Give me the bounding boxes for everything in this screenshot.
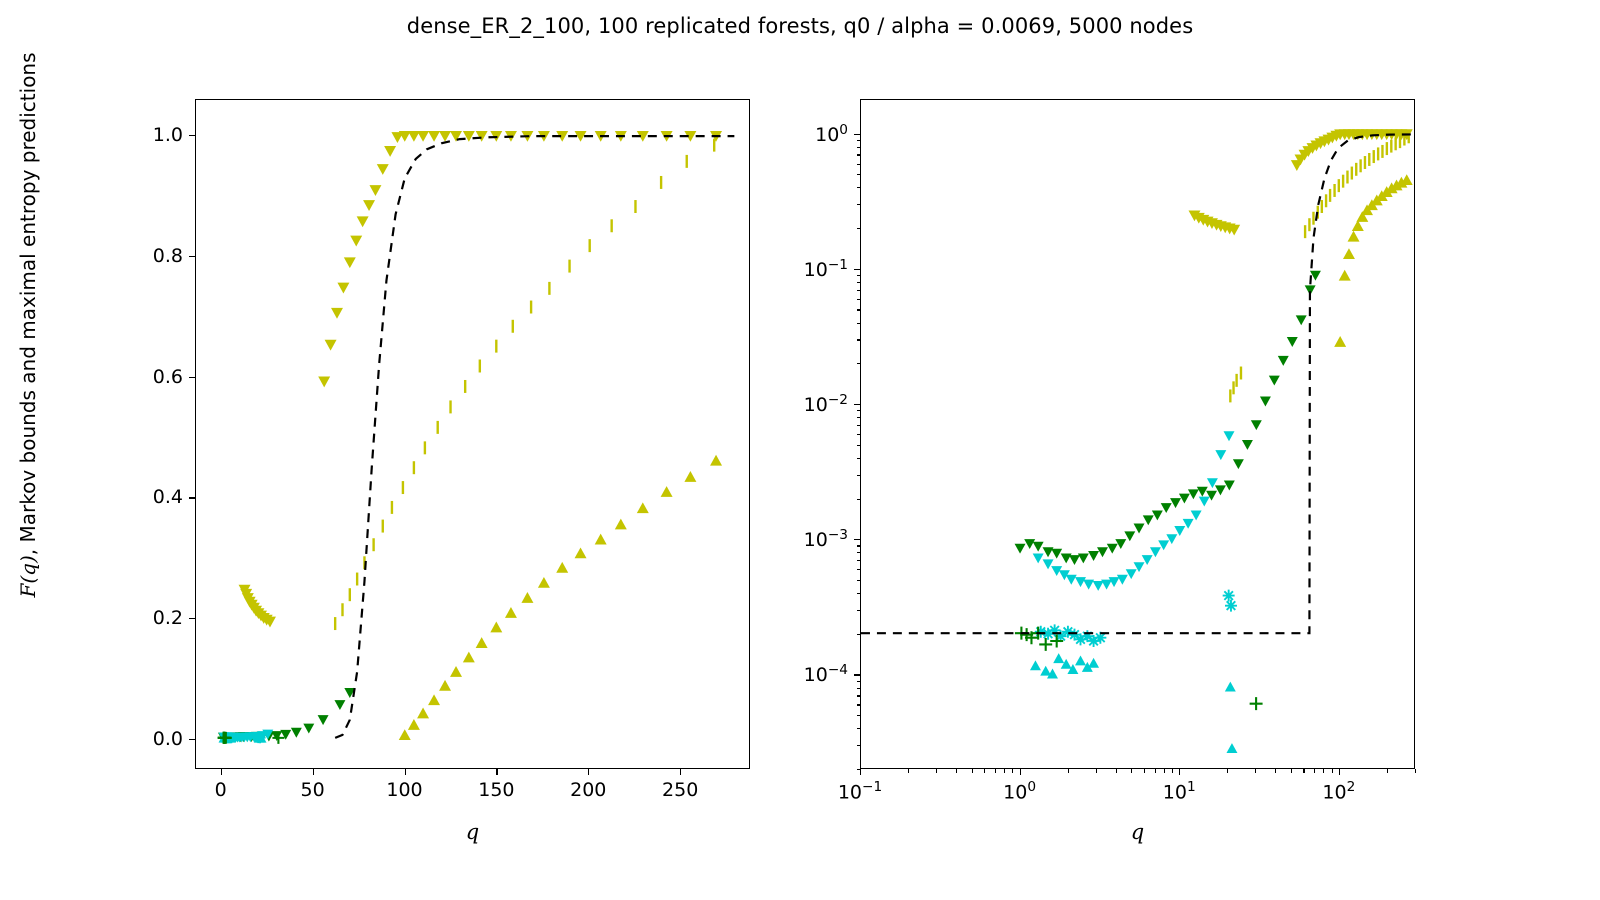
x-tick-mark <box>1179 769 1180 775</box>
data-point <box>1124 531 1135 541</box>
data-point <box>428 694 440 705</box>
data-point <box>1188 489 1199 499</box>
y-minor-tick-mark <box>857 174 861 175</box>
data-point <box>1078 553 1089 563</box>
data-point <box>556 562 568 573</box>
data-point <box>417 131 429 142</box>
y-minor-tick-mark <box>857 593 861 594</box>
series-black-dashed-prediction <box>861 134 1412 633</box>
data-point <box>661 486 673 497</box>
data-point <box>1250 697 1263 710</box>
x-minor-tick-mark <box>1144 769 1145 773</box>
y-minor-tick-mark <box>857 299 861 300</box>
data-point <box>1101 580 1112 590</box>
data-point <box>1030 660 1041 670</box>
data-point <box>1066 575 1077 585</box>
y-tick-label: 10−1 <box>784 257 848 281</box>
data-point <box>1287 337 1298 347</box>
data-point <box>1242 440 1253 450</box>
data-point <box>505 607 517 618</box>
data-point <box>1296 315 1307 325</box>
y-tick-mark <box>189 135 195 136</box>
data-point <box>476 637 488 648</box>
y-minor-tick-mark <box>857 681 861 682</box>
y-minor-tick-mark <box>857 715 861 716</box>
x-minor-tick-mark <box>995 769 996 773</box>
y-minor-tick-mark <box>857 704 861 705</box>
x-minor-tick-mark <box>1164 769 1165 773</box>
data-point <box>595 534 607 545</box>
y-minor-tick-mark <box>857 745 861 746</box>
data-point <box>1225 682 1236 692</box>
series-cyan-up-triangle-low <box>1030 653 1237 753</box>
y-axis-label-italic: F(q) <box>16 555 40 597</box>
data-point <box>1126 569 1137 579</box>
data-point <box>331 308 343 319</box>
y-minor-tick-mark <box>857 187 861 188</box>
x-minor-tick-mark <box>1415 769 1416 773</box>
data-point <box>369 185 381 196</box>
data-point <box>1343 248 1355 259</box>
data-point <box>1107 544 1118 554</box>
x-minor-tick-mark <box>1096 769 1097 773</box>
x-minor-tick-mark <box>1314 769 1315 773</box>
data-point <box>1134 524 1145 534</box>
x-tick-label: 100 <box>386 779 422 801</box>
x-tick-mark <box>860 769 861 775</box>
y-tick-label: 0.2 <box>135 607 183 629</box>
x-minor-tick-mark <box>972 769 973 773</box>
data-point <box>476 131 488 142</box>
data-point <box>357 216 369 227</box>
y-minor-tick-mark <box>857 425 861 426</box>
x-tick-label: 250 <box>662 779 698 801</box>
y-minor-tick-mark <box>857 445 861 446</box>
data-point <box>1215 485 1226 495</box>
data-point <box>439 131 451 142</box>
data-point <box>318 715 329 725</box>
y-tick-mark <box>854 404 860 405</box>
y-tick-mark <box>189 377 195 378</box>
x-tick-mark <box>405 769 406 775</box>
data-point <box>1069 555 1080 565</box>
y-tick-mark <box>189 739 195 740</box>
y-minor-tick-mark <box>857 688 861 689</box>
data-point <box>1053 653 1064 663</box>
data-point <box>1197 487 1208 497</box>
x-tick-label: 50 <box>301 779 325 801</box>
data-point <box>538 577 550 588</box>
y-minor-tick-mark <box>857 228 861 229</box>
y-axis-label-rest: , Markov bounds and maximal entropy pred… <box>16 52 40 555</box>
data-point <box>490 621 502 632</box>
series-yellow-up-triangle-lower <box>1334 174 1413 347</box>
data-point <box>350 236 362 247</box>
data-point <box>384 146 396 157</box>
data-point <box>1225 600 1237 612</box>
data-point <box>408 719 420 730</box>
data-point <box>1170 498 1181 508</box>
y-tick-label: 100 <box>784 121 848 145</box>
x-tick-mark <box>496 769 497 775</box>
y-tick-label: 10−3 <box>784 527 848 551</box>
x-tick-mark <box>313 769 314 775</box>
data-point <box>710 455 722 466</box>
data-point <box>1024 539 1035 549</box>
x-minor-tick-mark <box>908 769 909 773</box>
data-point <box>1093 581 1104 591</box>
x-tick-label: 10−1 <box>838 779 882 803</box>
data-point <box>417 708 429 719</box>
data-point <box>1348 231 1360 242</box>
y-minor-tick-mark <box>857 417 861 418</box>
y-minor-tick-mark <box>857 290 861 291</box>
x-minor-tick-mark <box>984 769 985 773</box>
data-point <box>1143 515 1154 525</box>
data-point <box>337 283 349 294</box>
data-point <box>1233 459 1244 469</box>
x-minor-tick-mark <box>956 769 957 773</box>
linear-plot-canvas <box>196 100 749 768</box>
y-minor-tick-mark <box>857 154 861 155</box>
data-point <box>1039 638 1052 651</box>
y-minor-tick-mark <box>857 309 861 310</box>
y-minor-tick-mark <box>857 282 861 283</box>
y-minor-tick-mark <box>857 275 861 276</box>
x-minor-tick-mark <box>1116 769 1117 773</box>
y-tick-mark <box>854 674 860 675</box>
x-minor-tick-mark <box>1323 769 1324 773</box>
series-yellow-vline-maxent <box>1230 130 1408 402</box>
data-point <box>291 728 302 738</box>
figure-canvas: dense_ER_2_100, 100 replicated forests, … <box>0 0 1600 900</box>
x-minor-tick-mark <box>1155 769 1156 773</box>
data-point <box>1015 544 1026 554</box>
y-minor-tick-mark <box>857 695 861 696</box>
x-minor-tick-mark <box>1068 769 1069 773</box>
y-minor-tick-mark <box>857 499 861 500</box>
data-point <box>428 131 440 142</box>
data-point <box>1075 655 1086 665</box>
y-tick-mark <box>189 256 195 257</box>
data-point <box>1033 542 1044 552</box>
series-yellow-vline-maxent <box>335 139 714 630</box>
y-tick-mark <box>854 539 860 540</box>
y-tick-mark <box>854 134 860 135</box>
data-point <box>637 502 649 513</box>
data-point <box>575 547 587 558</box>
y-minor-tick-mark <box>857 569 861 570</box>
y-minor-tick-mark <box>857 728 861 729</box>
data-point <box>1260 397 1271 407</box>
y-minor-tick-mark <box>857 458 861 459</box>
data-point <box>303 724 314 734</box>
y-minor-tick-mark <box>857 164 861 165</box>
y-tick-mark <box>189 618 195 619</box>
y-minor-tick-mark <box>857 560 861 561</box>
data-point <box>1226 743 1237 753</box>
series-cyan-asterisk-markov <box>1035 590 1237 647</box>
x-minor-tick-mark <box>1275 769 1276 773</box>
y-minor-tick-mark <box>857 410 861 411</box>
x-minor-tick-mark <box>1291 769 1292 773</box>
data-point <box>1117 575 1128 585</box>
y-tick-label: 0.8 <box>135 245 183 267</box>
data-point <box>1161 503 1172 513</box>
data-point <box>363 200 375 211</box>
y-minor-tick-mark <box>857 434 861 435</box>
series-cyan-down-triangle-bound <box>1033 431 1235 591</box>
data-point <box>1097 547 1108 557</box>
data-point <box>1088 658 1099 668</box>
y-minor-tick-mark <box>857 204 861 205</box>
data-point <box>1215 450 1226 460</box>
y-tick-label: 0.0 <box>135 728 183 750</box>
x-tick-mark <box>588 769 589 775</box>
data-point <box>1278 356 1289 366</box>
data-point <box>271 731 282 741</box>
y-tick-mark <box>854 269 860 270</box>
series-yellow-up-triangle-lower <box>399 455 722 740</box>
x-tick-label: 0 <box>215 779 227 801</box>
series-yellow-down-triangle-upper <box>239 131 722 627</box>
data-point <box>463 652 475 663</box>
y-tick-label: 10−2 <box>784 392 848 416</box>
figure-title: dense_ER_2_100, 100 replicated forests, … <box>0 14 1600 38</box>
data-point <box>1033 553 1044 563</box>
data-point <box>377 164 389 175</box>
data-point <box>1223 590 1235 602</box>
y-minor-tick-mark <box>857 323 861 324</box>
x-tick-label: 100 <box>1003 779 1036 803</box>
data-point <box>463 131 475 142</box>
data-point <box>439 680 451 691</box>
y-tick-label: 10−4 <box>784 662 848 686</box>
data-point <box>1088 551 1099 561</box>
x-minor-tick-mark <box>936 769 937 773</box>
data-point <box>399 729 411 740</box>
x-tick-label: 200 <box>570 779 606 801</box>
data-point <box>684 471 696 482</box>
data-point <box>344 257 356 268</box>
y-tick-label: 0.6 <box>135 366 183 388</box>
y-minor-tick-mark <box>857 610 861 611</box>
x-minor-tick-mark <box>1227 769 1228 773</box>
data-point <box>255 732 266 743</box>
x-minor-tick-mark <box>1131 769 1132 773</box>
data-point <box>1339 270 1351 281</box>
linear-plot-axes <box>195 99 750 769</box>
data-point <box>1334 336 1346 347</box>
y-minor-tick-mark <box>857 339 861 340</box>
x-minor-tick-mark <box>1012 769 1013 773</box>
series-green-down-triangle-empirical <box>1015 271 1321 565</box>
data-point <box>334 700 345 710</box>
data-point <box>1043 559 1054 569</box>
y-minor-tick-mark <box>857 363 861 364</box>
x-axis-label-right: q <box>860 820 1415 844</box>
x-tick-mark <box>221 769 222 775</box>
data-point <box>1269 376 1280 386</box>
x-minor-tick-mark <box>1332 769 1333 773</box>
x-tick-mark <box>1020 769 1021 775</box>
y-axis-label: F(q), Markov bounds and maximal entropy … <box>16 0 40 675</box>
loglog-plot-axes <box>860 99 1415 769</box>
data-point <box>450 666 462 677</box>
data-point <box>1051 549 1062 559</box>
data-point <box>1075 577 1086 587</box>
loglog-plot-canvas <box>861 100 1414 768</box>
data-point <box>1251 420 1262 430</box>
x-tick-mark <box>1339 769 1340 775</box>
y-tick-label: 1.0 <box>135 124 183 146</box>
y-minor-tick-mark <box>857 552 861 553</box>
x-minor-tick-mark <box>1172 769 1173 773</box>
data-point <box>1061 553 1072 563</box>
y-minor-tick-mark <box>857 475 861 476</box>
y-minor-tick-mark <box>857 634 861 635</box>
data-point <box>521 592 533 603</box>
series-yellow-down-triangle-upper <box>1189 129 1413 235</box>
x-minor-tick-mark <box>1004 769 1005 773</box>
y-minor-tick-mark <box>857 140 861 141</box>
y-tick-label: 0.4 <box>135 486 183 508</box>
x-tick-label: 101 <box>1163 779 1196 803</box>
x-tick-label: 150 <box>478 779 514 801</box>
x-tick-label: 102 <box>1322 779 1355 803</box>
x-minor-tick-mark <box>1303 769 1304 773</box>
series-green-plus-markov <box>1015 627 1263 710</box>
x-minor-tick-mark <box>1255 769 1256 773</box>
y-minor-tick-mark <box>857 545 861 546</box>
x-minor-tick-mark <box>1387 769 1388 773</box>
data-point <box>615 519 627 530</box>
y-minor-tick-mark <box>857 580 861 581</box>
y-minor-tick-mark <box>857 147 861 148</box>
x-axis-label-left: q <box>195 820 750 844</box>
series-black-dashed-prediction <box>335 136 734 738</box>
y-minor-tick-mark <box>857 769 861 770</box>
data-point <box>1166 534 1177 544</box>
x-tick-mark <box>680 769 681 775</box>
data-point <box>318 376 330 387</box>
data-point <box>1083 580 1094 590</box>
data-point <box>1224 431 1235 441</box>
data-point <box>1199 497 1210 507</box>
y-tick-mark <box>189 497 195 498</box>
data-point <box>325 340 337 351</box>
